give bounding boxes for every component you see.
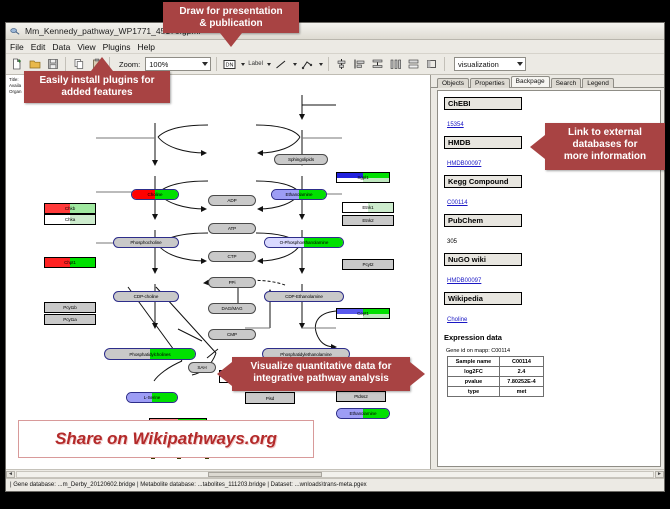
menu-file[interactable]: File — [10, 42, 24, 52]
metabolite-node[interactable]: PPi — [208, 277, 256, 288]
node-label: Pcyt1b — [45, 305, 95, 310]
node-label: L-Serine — [127, 395, 177, 400]
gene-product-node[interactable]: Etnk2 — [342, 215, 394, 226]
metabolite-node[interactable]: CMP — [208, 329, 256, 340]
gene-product-node[interactable]: Pcyt1a — [44, 314, 96, 325]
node-label: Choline — [132, 192, 178, 197]
node-label: CDP-Ethanolamine — [265, 294, 343, 299]
node-label: CTP — [209, 254, 255, 259]
pathway-canvas-container[interactable]: Title: Availa Organ — [6, 75, 431, 469]
gene-id-line: Gene id on mapp: C00114 — [446, 348, 660, 354]
db-section-header: Wikipedia — [444, 292, 522, 305]
copy-icon[interactable] — [71, 57, 86, 72]
expression-row-label: Sample name — [448, 357, 500, 367]
svg-text:DN: DN — [226, 62, 234, 68]
horizontal-scrollbar[interactable]: ◄ ► — [6, 469, 664, 478]
gene-product-node[interactable]: Pisd — [245, 392, 295, 404]
db-section-header: NuGO wiki — [444, 253, 522, 266]
node-label: Phosphatidylcholines — [105, 352, 195, 357]
metabolite-node[interactable]: Phosphatidylcholines — [104, 348, 196, 360]
menu-bar: File Edit Data View Plugins Help — [6, 40, 664, 54]
gene-product-node[interactable]: Pcyt1b — [44, 302, 96, 313]
expression-row-value: met — [500, 387, 544, 397]
node-label: ATP — [209, 226, 255, 231]
status-bar: | Gene database: ...m_Derby_20120602.bri… — [6, 478, 664, 491]
table-row: typemet — [448, 387, 544, 397]
metabolite-node[interactable]: Sphingolipids — [274, 154, 328, 165]
menu-plugins[interactable]: Plugins — [103, 42, 131, 52]
metabolite-node[interactable]: O-Phosphoethanolamine — [264, 237, 344, 248]
db-external-link[interactable]: HMDB00097 — [447, 278, 481, 284]
gene-product-node[interactable]: Sgpl1 — [336, 172, 390, 183]
app-icon — [10, 26, 21, 37]
menu-help[interactable]: Help — [138, 42, 155, 52]
metabolite-node[interactable]: ADP — [208, 195, 256, 206]
metabolite-node[interactable]: Ethanolamine — [336, 408, 390, 419]
gene-product-node[interactable]: Chka — [44, 214, 96, 225]
node-label: Ptdss2 — [337, 394, 385, 399]
tab-objects[interactable]: Objects — [437, 78, 469, 88]
expression-row-label: type — [448, 387, 500, 397]
node-label: ADP — [209, 198, 255, 203]
menu-view[interactable]: View — [77, 42, 95, 52]
gene-product-node[interactable]: Chpt1 — [44, 257, 96, 268]
node-label: Chpt1 — [45, 260, 95, 265]
stack-icon[interactable] — [406, 57, 421, 72]
node-label: Cept1 — [337, 311, 389, 316]
callout-visualize-arrow-left-icon — [217, 362, 232, 386]
metabolite-node[interactable]: Ethanolamine — [271, 189, 327, 200]
metabolite-node[interactable]: SAH — [188, 362, 216, 373]
expression-data-heading: Expression data — [444, 333, 660, 342]
share-on-wikipathways-banner: Share on Wikipathways.org — [18, 420, 314, 458]
metabolite-node[interactable]: CDP-Ethanolamine — [264, 291, 344, 302]
toolbar-separator-3 — [216, 57, 217, 71]
label-tool-label[interactable]: Label — [248, 61, 263, 67]
callout-visualize-data: Visualize quantitative data forintegrati… — [232, 357, 410, 391]
callout-draw-arrow-icon — [220, 33, 242, 47]
status-text: | Gene database: ...m_Derby_20120602.bri… — [10, 482, 367, 488]
datanode-tool-icon[interactable]: DN — [222, 57, 237, 72]
db-section-header: PubChem — [444, 214, 522, 227]
gene-product-node[interactable]: Pcyt2 — [342, 259, 394, 270]
node-label: Pcyt2 — [343, 262, 393, 267]
table-row: Sample nameC00114 — [448, 357, 544, 367]
scroll-right-icon[interactable]: ► — [655, 471, 664, 478]
scrollbar-thumb[interactable] — [208, 472, 322, 477]
distribute-horizontal-icon[interactable] — [388, 57, 403, 72]
db-external-link[interactable]: Choline — [447, 317, 467, 323]
line-tool-icon[interactable] — [274, 57, 289, 72]
metabolite-node[interactable]: ATP — [208, 223, 256, 234]
shape-dropdown-icon[interactable] — [319, 63, 323, 66]
chevron-down-icon — [202, 62, 208, 66]
tab-search[interactable]: Search — [551, 78, 582, 88]
tab-legend[interactable]: Legend — [582, 78, 614, 88]
db-section-header: Kegg Compound — [444, 175, 522, 188]
node-label: Chka — [45, 217, 95, 222]
node-label: DAG/MAG — [209, 306, 255, 311]
toolbar-separator-4 — [328, 57, 329, 71]
db-external-link[interactable]: 15354 — [447, 122, 464, 128]
table-row: log2FC2.4 — [448, 367, 544, 377]
save-icon[interactable] — [45, 57, 60, 72]
callout-install-plugins: Easily install plugins foradded features — [24, 71, 170, 103]
zoom-label: Zoom: — [119, 60, 140, 69]
open-folder-icon[interactable] — [27, 57, 42, 72]
tab-backpage[interactable]: Backpage — [511, 76, 550, 87]
metabolite-node[interactable]: Phosphocholine — [113, 237, 179, 248]
align-left-icon[interactable] — [352, 57, 367, 72]
node-label: Sphingolipids — [275, 157, 327, 162]
gene-product-node[interactable]: Chkb — [44, 203, 96, 214]
expression-row-label: log2FC — [448, 367, 500, 377]
panel-tabstrip: Objects Properties Backpage Search Legen… — [431, 75, 664, 88]
shape-tool-icon[interactable] — [300, 57, 315, 72]
callout-link-to-databases: Link to externaldatabases formore inform… — [545, 123, 665, 170]
gene-product-node[interactable]: Cept1 — [336, 308, 390, 319]
node-label: Ethanolamine — [337, 411, 389, 416]
table-row: pvalue7.80252E-4 — [448, 377, 544, 387]
db-section-header: ChEBI — [444, 97, 522, 110]
node-label: Phosphatidylethanolamine — [263, 352, 349, 357]
node-label: CDP-choline — [114, 294, 178, 299]
expression-row-value: 7.80252E-4 — [500, 377, 544, 387]
scroll-left-icon[interactable]: ◄ — [6, 471, 15, 478]
node-label: SAH — [189, 365, 215, 370]
zoom-combobox[interactable]: 100% — [145, 57, 211, 71]
share-banner-text: Share on Wikipathways.org — [55, 429, 277, 449]
expression-table: Sample nameC00114log2FC2.4pvalue7.80252E… — [447, 356, 544, 397]
metabolite-node[interactable]: CTP — [208, 251, 256, 262]
node-label: PPi — [209, 280, 255, 285]
zoom-value: 100% — [149, 60, 168, 69]
order-icon[interactable] — [424, 57, 439, 72]
window-titlebar: Mm_Kennedy_pathway_WP1771_45176.gpml — [6, 23, 664, 40]
menu-edit[interactable]: Edit — [31, 42, 46, 52]
node-label: O-Phosphoethanolamine — [265, 240, 343, 245]
node-label: Pisd — [246, 396, 294, 401]
expression-row-value: 2.4 — [500, 367, 544, 377]
line-dropdown-icon[interactable] — [293, 63, 297, 66]
db-external-link[interactable]: C00114 — [447, 200, 468, 206]
expression-row-label: pvalue — [448, 377, 500, 387]
chevron-down-icon-2 — [517, 62, 523, 66]
metabolite-node[interactable]: L-Serine — [126, 392, 178, 403]
node-label: CMP — [209, 332, 255, 337]
gene-product-node[interactable]: Ptdss2 — [336, 391, 386, 402]
node-label: Ethanolamine — [272, 192, 326, 197]
new-file-icon[interactable] — [9, 57, 24, 72]
node-label: Chkb — [45, 206, 95, 211]
node-label: Phosphocholine — [114, 240, 178, 245]
pathway-canvas[interactable]: Title: Availa Organ — [6, 75, 430, 469]
tab-properties[interactable]: Properties — [470, 78, 510, 88]
callout-link-arrow-icon — [530, 135, 545, 159]
metabolite-node[interactable]: CDP-choline — [113, 291, 179, 302]
visualization-value: visualization — [458, 60, 499, 69]
node-label: Etnk1 — [343, 205, 393, 210]
toolbar-separator-5 — [444, 57, 445, 71]
datanode-dropdown-icon[interactable] — [241, 63, 245, 66]
db-external-link[interactable]: HMDB00097 — [447, 161, 481, 167]
callout-visualize-arrow-right-icon — [410, 362, 425, 386]
metabolite-node[interactable]: DAG/MAG — [208, 303, 256, 314]
visualization-combobox[interactable]: visualization — [454, 57, 526, 71]
toolbar-separator-1 — [65, 57, 66, 71]
metabolite-node[interactable]: Choline — [131, 189, 179, 200]
label-dropdown-icon[interactable] — [267, 63, 271, 66]
node-label: Sgpl1 — [337, 175, 389, 180]
node-label: Etnk2 — [343, 218, 393, 223]
scrollbar-track[interactable] — [16, 471, 654, 478]
callout-plugins-arrow-icon — [91, 57, 113, 71]
distribute-vertical-icon[interactable] — [370, 57, 385, 72]
gene-product-node[interactable]: Etnk1 — [342, 202, 394, 213]
node-label: Pcyt1a — [45, 317, 95, 322]
align-center-icon[interactable] — [334, 57, 349, 72]
expression-row-value: C00114 — [500, 357, 544, 367]
screenshot-root: Mm_Kennedy_pathway_WP1771_45176.gpml Fil… — [0, 0, 670, 509]
callout-draw-for-publication: Draw for presentation& publication — [163, 2, 299, 33]
db-value: 305 — [447, 239, 457, 245]
db-section-header: HMDB — [444, 136, 522, 149]
menu-data[interactable]: Data — [52, 42, 70, 52]
